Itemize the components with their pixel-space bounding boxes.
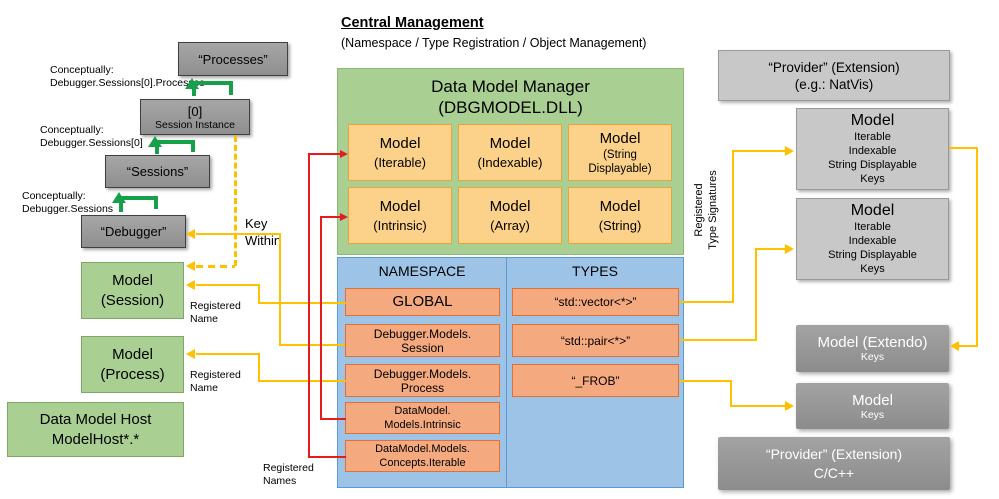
session-instance-dashed-link <box>234 136 237 266</box>
provider-natvis-line1: “Provider” (Extension) <box>768 59 899 76</box>
registry-type-label: “_FROB” <box>572 374 620 388</box>
red-link-1-arrowhead <box>340 150 348 158</box>
type-link-3-horz-b <box>730 405 786 407</box>
registry-type-row[interactable]: “_FROB” <box>512 364 679 397</box>
provider-cpp-line1: “Provider” (Extension) <box>766 445 902 464</box>
session-instance-dashed-arrowhead <box>186 261 195 271</box>
type-link-1-vert <box>732 150 734 303</box>
data-model-manager-title: Data Model Manager (DBGMODEL.DLL) <box>337 76 684 118</box>
data-model-manager-title-line1: Data Model Manager <box>337 76 684 97</box>
registry-header-types: TYPES <box>508 263 682 279</box>
key-within-label: Key Within <box>245 215 305 249</box>
type-link-2-horz-b <box>755 248 786 250</box>
chain-arrow-3-head <box>112 192 126 203</box>
provider-cpp-box[interactable]: “Provider” (Extension) C/C++ <box>718 437 950 490</box>
model-box-data-model-host[interactable]: Data Model Host ModelHost*.* <box>7 402 184 457</box>
key-within-source-horz <box>279 344 345 346</box>
type-link-1-horz-b <box>732 150 786 152</box>
model-cell-array-top: Model <box>490 197 531 216</box>
extendo-link-vert <box>976 147 978 347</box>
provider-natvis-line2: (e.g.: NatVis) <box>795 76 874 93</box>
object-box-session-instance[interactable]: [0] Session Instance <box>140 99 250 135</box>
registered-name-2-arrowhead <box>186 349 195 359</box>
right-model-box-1[interactable]: Model Iterable Indexable String Displaya… <box>796 108 949 190</box>
provider-cpp-line2: C/C++ <box>814 464 854 483</box>
red-link-1-vert <box>308 153 310 458</box>
key-within-vert <box>279 233 281 345</box>
registered-name-2-horz-a <box>196 353 259 355</box>
type-link-1-horz-a <box>679 301 734 303</box>
right-model-box-extendo-title: Model (Extendo) <box>817 334 927 351</box>
note-sessions: Conceptually: Debugger.Sessions <box>22 190 232 216</box>
model-cell-iterable-top: Model <box>380 134 421 153</box>
object-box-sessions-label: “Sessions” <box>127 164 188 179</box>
model-cell-indexable[interactable]: Model (Indexable) <box>458 124 562 181</box>
registry-namespace-row[interactable]: GLOBAL <box>345 288 500 316</box>
extendo-link-horz-a <box>949 147 978 149</box>
object-box-processes[interactable]: “Processes” <box>178 42 288 76</box>
extendo-link-arrowhead <box>950 341 959 351</box>
registered-name-2-vert <box>258 353 260 381</box>
registered-name-1-horz-b <box>258 302 346 304</box>
data-model-manager-title-line2: (DBGMODEL.DLL) <box>337 97 684 118</box>
model-cell-iterable-bottom: (Iterable) <box>374 153 426 172</box>
model-cell-string-displayable[interactable]: Model (String Displayable) <box>568 124 672 181</box>
model-cell-intrinsic-top: Model <box>380 197 421 216</box>
model-cell-array[interactable]: Model (Array) <box>458 187 562 244</box>
type-link-2-vert <box>755 248 757 341</box>
right-model-box-2[interactable]: Model Iterable Indexable String Displaya… <box>796 198 949 280</box>
type-link-3-vert <box>730 380 732 406</box>
registry-type-label: “std::pair<*>” <box>561 334 630 348</box>
model-box-session-line2: (Session) <box>101 291 164 311</box>
red-link-2-arrowhead <box>340 213 348 221</box>
red-link-2-horz-bottom <box>320 418 346 420</box>
registry-type-label: “std::vector<*>” <box>554 295 636 309</box>
model-cell-string-displayable-bottom: (String Displayable) <box>588 148 651 176</box>
registry-namespace-label: DataModel. Models.Intrinsic <box>384 404 460 432</box>
page-title: Central Management <box>341 15 484 31</box>
registered-name-1-horz-a <box>196 284 259 286</box>
model-box-data-model-host-line1: Data Model Host <box>40 410 152 430</box>
model-cell-array-bottom: (Array) <box>490 216 530 235</box>
registry-namespace-row[interactable]: Debugger.Models. Session <box>345 324 500 357</box>
extendo-link-horz-b <box>959 345 978 347</box>
chain-arrow-1-head <box>185 78 199 89</box>
registry-namespace-label: Debugger.Models. Process <box>374 367 471 395</box>
model-box-process-line2: (Process) <box>100 365 164 385</box>
key-within-arrowhead <box>186 229 195 239</box>
model-cell-string-displayable-top: Model <box>600 129 641 148</box>
red-link-2-horz-top <box>320 216 342 218</box>
model-box-data-model-host-line2: ModelHost*.* <box>52 430 140 450</box>
registry-namespace-row[interactable]: DataModel.Models. Concepts.Iterable <box>345 440 500 472</box>
type-link-1-arrowhead <box>785 146 794 156</box>
registered-name-label-1: Registered Name <box>190 300 260 326</box>
right-model-box-1-detail: Iterable Indexable String Displayable Ke… <box>828 130 917 186</box>
object-box-session-instance-label: Session Instance <box>155 119 235 131</box>
registry-header-namespace: NAMESPACE <box>339 263 505 279</box>
type-link-3-arrowhead <box>785 401 794 411</box>
model-cell-string[interactable]: Model (String) <box>568 187 672 244</box>
registry-table-column-divider <box>506 257 507 488</box>
right-model-box-1-title: Model <box>851 112 895 130</box>
registry-namespace-label: GLOBAL <box>392 295 452 309</box>
model-cell-string-bottom: (String) <box>599 216 642 235</box>
model-cell-indexable-bottom: (Indexable) <box>477 153 542 172</box>
model-cell-intrinsic-bottom: (Intrinsic) <box>373 216 426 235</box>
registered-name-2-horz-b <box>258 380 346 382</box>
right-model-box-extendo-detail: Keys <box>861 351 884 363</box>
object-box-debugger[interactable]: “Debugger” <box>81 215 186 248</box>
provider-natvis-box[interactable]: “Provider” (Extension) (e.g.: NatVis) <box>718 50 950 101</box>
right-model-box-2-detail: Iterable Indexable String Displayable Ke… <box>828 220 917 276</box>
right-model-box-2-title: Model <box>851 202 895 220</box>
model-cell-indexable-top: Model <box>490 134 531 153</box>
object-box-processes-label: “Processes” <box>198 52 267 67</box>
registry-namespace-row[interactable]: Debugger.Models. Process <box>345 364 500 397</box>
model-cell-iterable[interactable]: Model (Iterable) <box>348 124 452 181</box>
right-model-box-extendo[interactable]: Model (Extendo) Keys <box>796 325 949 372</box>
object-box-debugger-label: “Debugger” <box>101 224 167 239</box>
object-box-sessions[interactable]: “Sessions” <box>105 155 210 188</box>
registered-name-1-vert <box>258 284 260 303</box>
model-box-session-line1: Model <box>112 271 153 291</box>
registered-name-label-2: Registered Name <box>190 369 260 395</box>
red-link-2-vert <box>320 216 322 420</box>
model-box-process[interactable]: Model (Process) <box>81 336 184 393</box>
type-link-2-arrowhead <box>785 244 794 254</box>
right-model-box-keys[interactable]: Model Keys <box>796 383 949 429</box>
registry-namespace-label: Debugger.Models. Session <box>374 327 471 355</box>
chain-arrow-2-head <box>148 136 162 147</box>
model-box-session[interactable]: Model (Session) <box>81 262 184 319</box>
registry-namespace-label: DataModel.Models. Concepts.Iterable <box>375 442 470 470</box>
type-link-2-horz-a <box>679 339 757 341</box>
registered-type-signatures-label: Registered Type Signatures <box>692 150 720 270</box>
session-instance-dashed-horz <box>196 265 235 268</box>
red-link-1-horz-top <box>308 153 342 155</box>
key-within-horz <box>196 233 281 235</box>
model-cell-intrinsic[interactable]: Model (Intrinsic) <box>348 187 452 244</box>
model-cell-string-top: Model <box>600 197 641 216</box>
registered-name-1-arrowhead <box>186 280 195 290</box>
registry-type-row[interactable]: “std::pair<*>” <box>512 324 679 357</box>
page-subtitle: (Namespace / Type Registration / Object … <box>341 36 646 50</box>
registry-type-row[interactable]: “std::vector<*>” <box>512 288 679 316</box>
right-model-box-keys-title: Model <box>852 392 893 409</box>
red-link-1-horz-bottom <box>308 456 346 458</box>
right-model-box-keys-detail: Keys <box>861 409 884 421</box>
registered-names-label: Registered Names <box>263 462 341 488</box>
type-link-3-horz-a <box>679 380 732 382</box>
registry-namespace-row[interactable]: DataModel. Models.Intrinsic <box>345 402 500 434</box>
object-box-session-instance-index: [0] <box>188 104 202 119</box>
model-box-process-line1: Model <box>112 345 153 365</box>
